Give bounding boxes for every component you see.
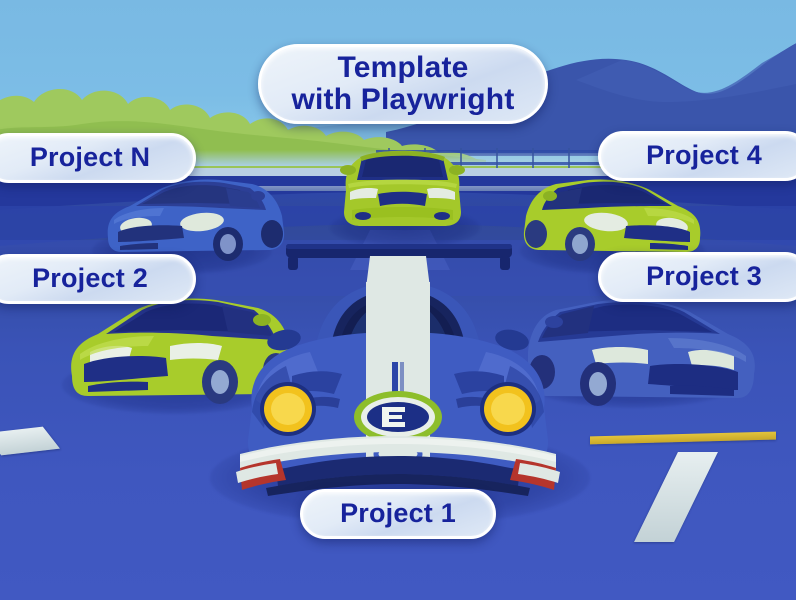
car-hero-supercar: [218, 232, 578, 502]
title-card: Template with Playwright: [258, 44, 548, 124]
car-center-green: [330, 136, 475, 236]
label-project-2[interactable]: Project 2: [0, 254, 196, 304]
label-project-4[interactable]: Project 4: [598, 131, 796, 181]
label-project-n[interactable]: Project N: [0, 133, 196, 183]
label-project-3[interactable]: Project 3: [598, 252, 796, 302]
hero-badge: [354, 391, 442, 443]
label-project-1[interactable]: Project 1: [300, 489, 496, 539]
illustration-scene: Template with Playwright Project N Proje…: [0, 0, 796, 600]
